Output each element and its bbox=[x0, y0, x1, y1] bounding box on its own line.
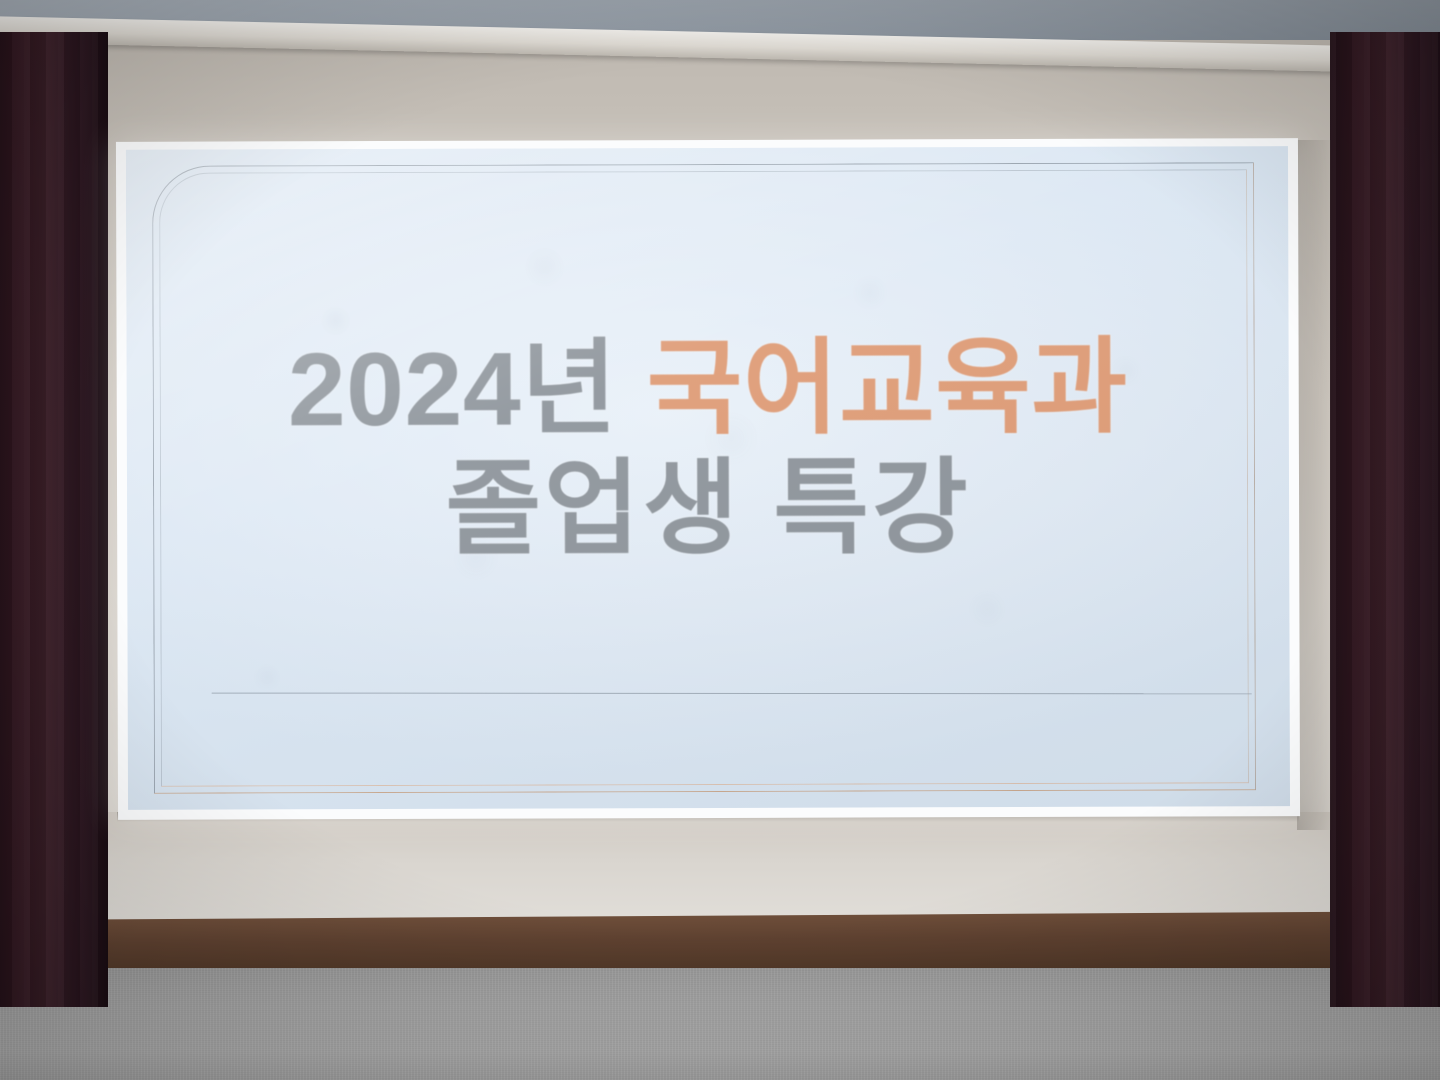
screen-right-shadow bbox=[1297, 140, 1331, 830]
title-event-name: 졸업생 특강 bbox=[445, 450, 971, 568]
slide-title-line-1: 2024년 국어교육과 bbox=[127, 332, 1289, 446]
presentation-slide: 2024년 국어교육과 졸업생 특강 bbox=[126, 146, 1290, 810]
title-year-prefix: 2024년 bbox=[288, 331, 647, 448]
slide-title-block: 2024년 국어교육과 졸업생 특강 bbox=[127, 332, 1290, 566]
carpet-texture bbox=[0, 968, 1440, 1080]
slide-title-line-2: 졸업생 특강 bbox=[127, 452, 1289, 566]
lecture-hall-photo: 2024년 국어교육과 졸업생 특강 bbox=[0, 0, 1440, 1080]
projection-screen: 2024년 국어교육과 졸업생 특강 bbox=[116, 138, 1300, 820]
curtain-right bbox=[1330, 32, 1440, 1007]
title-department-name: 국어교육과 bbox=[647, 330, 1128, 448]
curtain-right-folds bbox=[1330, 32, 1440, 1007]
curtain-left bbox=[0, 32, 108, 1007]
curtain-left-folds bbox=[0, 32, 108, 1007]
